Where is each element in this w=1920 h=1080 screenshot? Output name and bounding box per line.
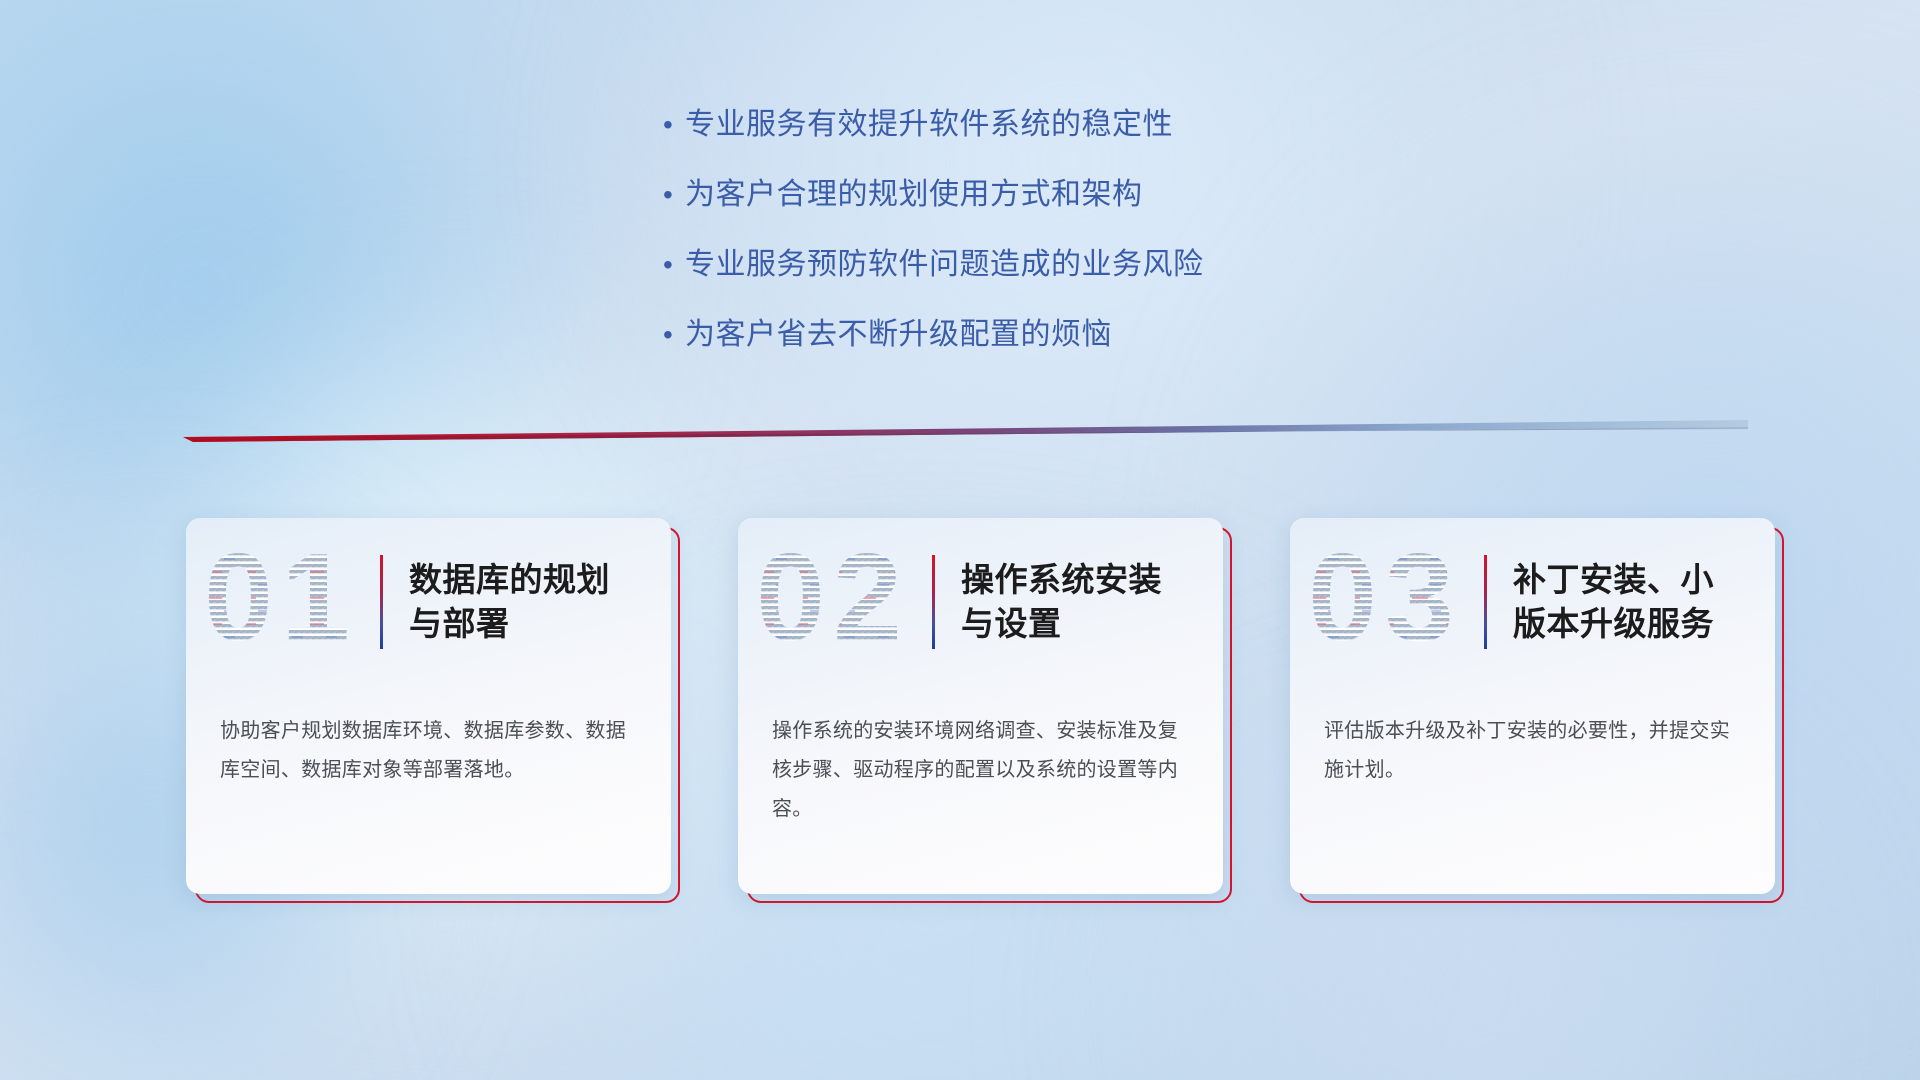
list-item: • 为客户省去不断升级配置的烦恼 bbox=[663, 315, 1423, 355]
service-card[interactable]: 02 操作系统安装 与设置 操作系统的安装环境网络调查、安装标准及复核步 bbox=[738, 518, 1232, 903]
card-title-line1: 补丁安装、小 bbox=[1513, 558, 1714, 602]
number-striped-glyph-icon: 03 bbox=[1308, 540, 1480, 664]
card-header: 01 数据库的规划 与部署 bbox=[186, 518, 671, 686]
card-title-line2: 与设置 bbox=[961, 602, 1162, 646]
card-title-line2: 与部署 bbox=[409, 602, 610, 646]
bullet-marker-icon: • bbox=[663, 175, 685, 215]
benefits-bullet-list: • 专业服务有效提升软件系统的稳定性 • 为客户合理的规划使用方式和架构 • 专… bbox=[663, 105, 1423, 385]
card-surface: 03 补丁安装、小 版本升级服务 评估版本升级及补丁安装的必要性，并提交 bbox=[1290, 518, 1775, 894]
card-accent-rule bbox=[380, 555, 383, 649]
card-number-watermark: 03 bbox=[1308, 540, 1480, 664]
section-divider bbox=[183, 420, 1748, 444]
list-item: • 为客户合理的规划使用方式和架构 bbox=[663, 175, 1423, 215]
card-header: 02 操作系统安装 与设置 bbox=[738, 518, 1223, 686]
card-title-line1: 数据库的规划 bbox=[409, 558, 610, 602]
list-item: • 专业服务预防软件问题造成的业务风险 bbox=[663, 245, 1423, 285]
bullet-text: 为客户省去不断升级配置的烦恼 bbox=[685, 315, 1112, 355]
card-title: 操作系统安装 与设置 bbox=[961, 558, 1172, 646]
bullet-text: 专业服务有效提升软件系统的稳定性 bbox=[685, 105, 1173, 145]
bullet-marker-icon: • bbox=[663, 105, 685, 145]
bullet-marker-icon: • bbox=[663, 315, 685, 355]
card-accent-rule bbox=[932, 555, 935, 649]
bullet-text: 为客户合理的规划使用方式和架构 bbox=[685, 175, 1143, 215]
card-title: 数据库的规划 与部署 bbox=[409, 558, 620, 646]
list-item: • 专业服务有效提升软件系统的稳定性 bbox=[663, 105, 1423, 145]
card-surface: 01 数据库的规划 与部署 协助客户规划数据库环境、数据库参数、数据库空 bbox=[186, 518, 671, 894]
card-accent-rule bbox=[1484, 555, 1487, 649]
card-title: 补丁安装、小 版本升级服务 bbox=[1513, 558, 1724, 646]
number-striped-glyph-icon: 01 bbox=[204, 540, 376, 664]
card-number-watermark: 02 bbox=[756, 540, 928, 664]
service-card[interactable]: 03 补丁安装、小 版本升级服务 评估版本升级及补丁安装的必要性，并提交 bbox=[1290, 518, 1784, 903]
divider-bar-shape bbox=[183, 420, 1748, 444]
card-title-line1: 操作系统安装 bbox=[961, 558, 1162, 602]
card-number-watermark: 01 bbox=[204, 540, 376, 664]
card-surface: 02 操作系统安装 与设置 操作系统的安装环境网络调查、安装标准及复核步 bbox=[738, 518, 1223, 894]
card-header: 03 补丁安装、小 版本升级服务 bbox=[1290, 518, 1775, 686]
bullet-marker-icon: • bbox=[663, 245, 685, 285]
service-card[interactable]: 01 数据库的规划 与部署 协助客户规划数据库环境、数据库参数、数据库空 bbox=[186, 518, 680, 903]
card-description: 评估版本升级及补丁安装的必要性，并提交实施计划。 bbox=[1290, 686, 1775, 790]
service-cards-row: 01 数据库的规划 与部署 协助客户规划数据库环境、数据库参数、数据库空 bbox=[186, 518, 1784, 903]
card-description: 操作系统的安装环境网络调查、安装标准及复核步骤、驱动程序的配置以及系统的设置等内… bbox=[738, 686, 1223, 829]
bullet-text: 专业服务预防软件问题造成的业务风险 bbox=[685, 245, 1204, 285]
card-title-line2: 版本升级服务 bbox=[1513, 602, 1714, 646]
card-description: 协助客户规划数据库环境、数据库参数、数据库空间、数据库对象等部署落地。 bbox=[186, 686, 671, 790]
number-striped-glyph-icon: 02 bbox=[756, 540, 928, 664]
